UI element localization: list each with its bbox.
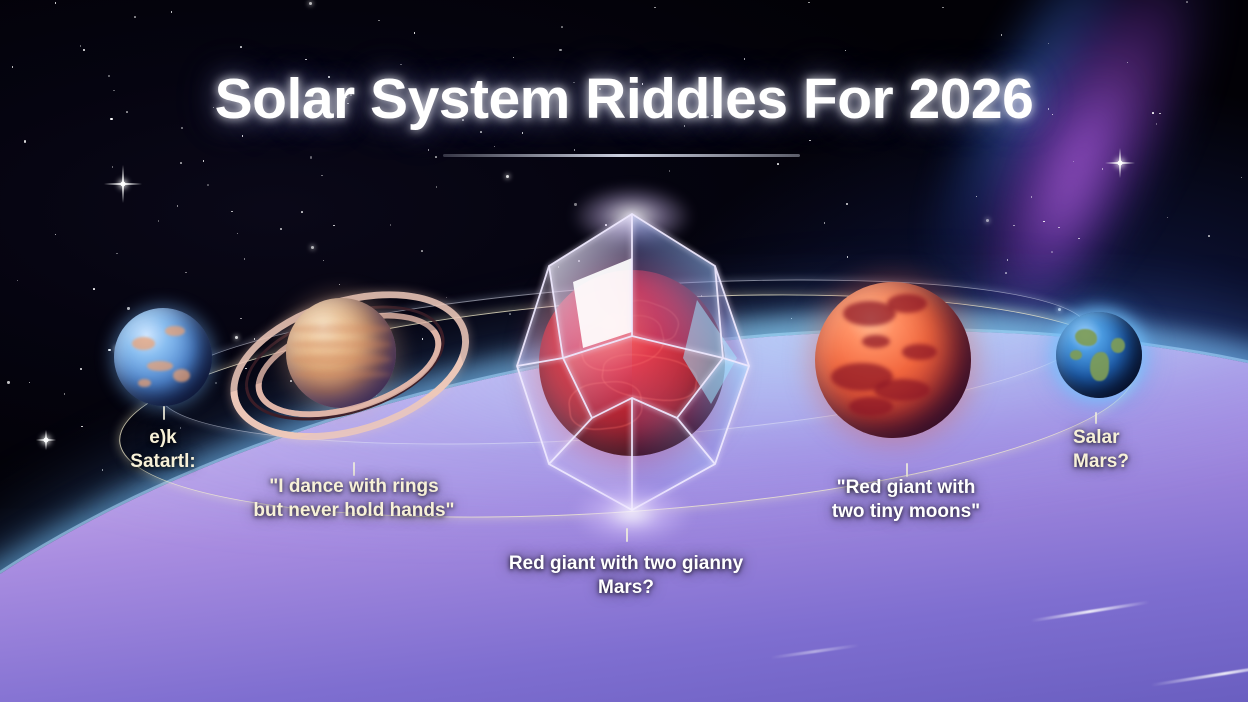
star [1005,272,1007,274]
star [378,20,380,22]
star [203,160,205,162]
connector-tick-crystal [626,528,628,542]
star [1051,251,1053,253]
title-divider [443,154,800,157]
star [64,393,66,395]
star [1102,168,1104,170]
caption-crystal: Red giant with two gianny Mars? [476,552,776,601]
star [112,166,114,168]
connector-tick-red-giant [906,463,908,477]
caption-red-giant: "Red giant with two tiny moons" [806,476,1006,525]
star [158,220,160,222]
star [55,2,57,4]
connector-tick-saturn [353,462,355,476]
star [242,135,244,137]
star [808,2,810,4]
page-title: Solar System Riddles For 2026 [0,66,1248,132]
star [654,7,656,9]
star [421,250,423,252]
star [127,307,129,309]
star [390,224,392,226]
star [777,163,779,165]
star [824,222,826,224]
star [93,288,95,290]
star [244,258,246,260]
star [435,156,437,158]
caption-blue-world: e)k Satartl: [93,426,233,475]
star [559,49,561,51]
star [333,225,335,227]
crystal-bottom-glow [572,484,692,544]
star [301,211,303,213]
star [561,26,563,28]
star [29,382,31,384]
star [1058,227,1060,229]
star [235,336,238,339]
star [428,149,430,151]
star [171,11,173,13]
planet-red-giant [815,282,971,438]
star [522,132,524,134]
star [1127,62,1129,64]
caption-earth: Salar Mars? [1073,426,1223,475]
star [80,45,82,47]
star [7,381,9,383]
star [809,140,811,142]
star [1031,196,1033,198]
star [305,59,307,61]
star [207,184,209,186]
star [309,2,312,5]
star [177,205,179,207]
star [185,272,187,274]
crystal-icosahedron [487,208,777,518]
space-infographic: Solar System Riddles For 2026 e)k Satart… [0,0,1248,702]
star [240,46,242,48]
star [845,50,847,52]
connector-tick-blue-world [163,406,165,420]
star [744,58,746,60]
crystal-facets [487,208,777,518]
caption-saturn: "I dance with rings but never hold hands… [243,475,465,524]
star [1186,1,1188,3]
star [1043,221,1045,223]
star [321,175,323,177]
star [1208,235,1210,237]
star [1078,238,1080,240]
planet-blue-world [114,308,212,406]
planet-earth [1056,312,1142,398]
star [180,162,182,164]
connector-tick-earth [1095,412,1097,424]
star [134,16,136,18]
